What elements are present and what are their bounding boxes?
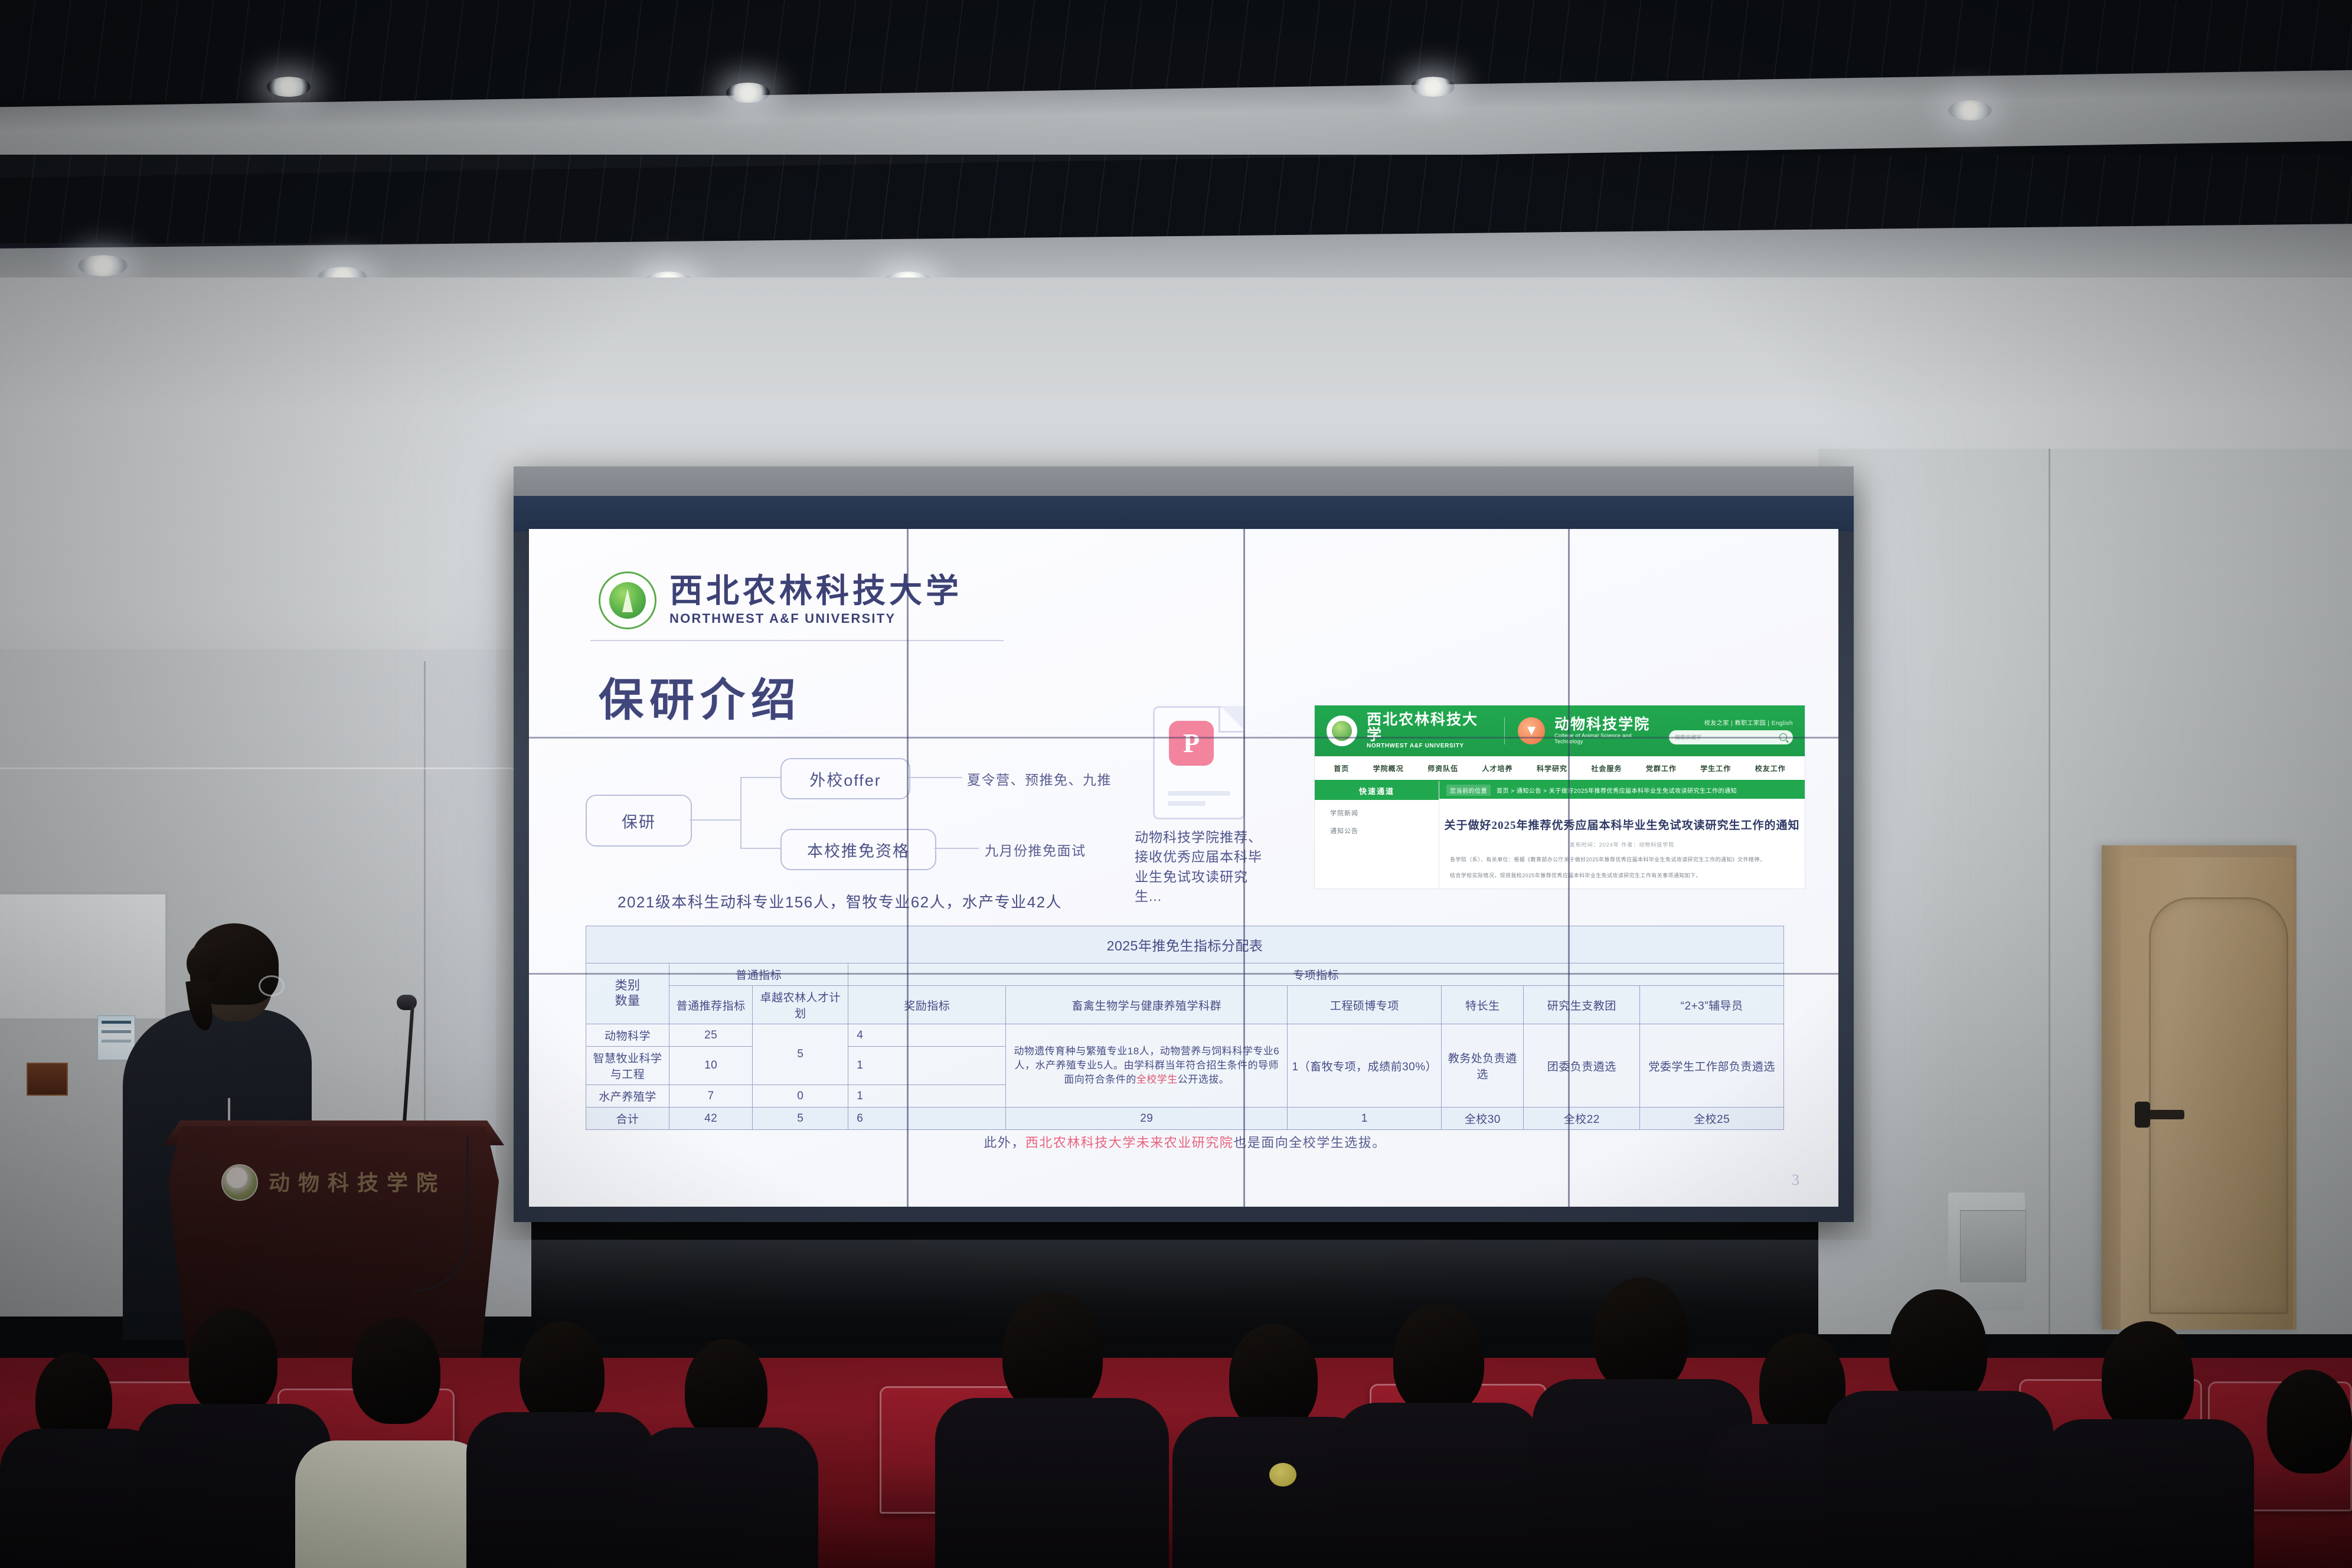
cell-talent-note: 教务处负责遴选	[1442, 1024, 1524, 1108]
row-smart-animal-general: 10	[669, 1047, 753, 1085]
cell-counselor-note: 党委学生工作部负责遴选	[1640, 1024, 1784, 1108]
wall-access-box	[1960, 1210, 2026, 1282]
flowchart-note-external-offer: 夏令营、预推免、九推	[967, 769, 1112, 789]
row-animal-science-label: 动物科学	[586, 1024, 669, 1047]
led-tile-seam-h-1	[529, 737, 1838, 739]
website-university-name: 西北农林科技大学 NORTHWEST A&F UNIVERSITY	[1367, 713, 1491, 750]
website-college-name-cn: 动物科技学院	[1554, 717, 1660, 733]
audience-shoulders	[935, 1398, 1169, 1568]
flowchart: 保研 外校offer 夏令营、预推免、九推 本校推免资格 九月份推免面试	[586, 760, 1070, 873]
flowchart-connector-note-1	[908, 777, 962, 778]
allocation-table: 2025年推免生指标分配表 类别数量 普通指标 专项指标 普通推荐指标 卓越农林…	[586, 926, 1784, 1130]
website-nav-item-7[interactable]: 学生工作	[1700, 763, 1731, 773]
col-engineering-master-phd: 工程硕博专项	[1288, 986, 1442, 1024]
website-university-name-en: NORTHWEST A&F UNIVERSITY	[1367, 743, 1491, 750]
website-header: 西北农林科技大学 NORTHWEST A&F UNIVERSITY ▼ 动物科技…	[1315, 705, 1805, 756]
podium-crest-icon	[221, 1164, 258, 1201]
row-smart-animal-label: 智慧牧业科学与工程	[586, 1047, 669, 1085]
discipline-group-desc-highlight: 全校学生	[1136, 1074, 1178, 1085]
audience-shoulders	[466, 1412, 655, 1568]
led-tile-seam-v-3	[1568, 529, 1570, 1207]
row-smart-animal-award: 1	[848, 1047, 1006, 1085]
door-handle[interactable]	[2143, 1110, 2184, 1119]
table-total-row: 合计 42 5 6 29 1 全校30 全校22 全校25	[586, 1108, 1784, 1130]
presenter-glasses-icon	[259, 975, 285, 997]
website-nav-item-1[interactable]: 学院概况	[1373, 763, 1404, 773]
doc-badge-letter: P	[1183, 730, 1200, 757]
website-nav[interactable]: 首页学院概况师资队伍人才培养科学研究社会服务党群工作学生工作校友工作	[1315, 756, 1805, 781]
row-total-discipline-group: 29	[1006, 1108, 1288, 1130]
audience-head	[685, 1339, 767, 1440]
university-crest-icon	[599, 571, 656, 629]
audience-shoulders	[635, 1427, 818, 1568]
col-counselor-2plus3: “2+3”辅导员	[1640, 986, 1784, 1024]
audience-shoulders	[1335, 1403, 1542, 1568]
ceiling-spotlight-5	[78, 255, 128, 276]
row-total-excellent: 5	[753, 1108, 848, 1130]
presentation-slide-surface[interactable]: 西北农林科技大学 NORTHWEST A&F UNIVERSITY 保研介绍 保…	[529, 529, 1838, 1207]
row-aquaculture-award: 1	[848, 1085, 1006, 1108]
table-title-row: 2025年推免生指标分配表	[586, 926, 1784, 963]
row-total-label: 合计	[586, 1108, 669, 1130]
website-top-links[interactable]: 校友之家 | 教职工家园 | English	[1669, 718, 1793, 727]
col-teaching-corps: 研究生支教团	[1524, 986, 1640, 1024]
website-sidebar-item-news[interactable]: 学院新闻	[1315, 800, 1439, 818]
document-card-caption: 动物科技学院推荐、接收优秀应届本科毕业生免试攻读研究生...	[1131, 828, 1267, 906]
document-card[interactable]: P 动物科技学院推荐、接收优秀应届本科毕业生免试攻读研究生...	[1131, 706, 1267, 906]
col-excellent-agri-plan: 卓越农林人才计划	[753, 986, 848, 1024]
website-university-crest-icon	[1327, 716, 1357, 746]
website-college-name: 动物科技学院 College of Animal Science and Tec…	[1554, 717, 1660, 744]
wps-doc-icon: P	[1153, 706, 1245, 819]
presenter-hair-bun	[187, 943, 223, 984]
flowchart-note-internal-qualification: 九月份推免面试	[985, 839, 1086, 860]
table-column-header-row: 普通推荐指标 卓越农林人才计划 奖励指标 畜禽生物学与健康养殖学科群 工程硕博专…	[586, 986, 1784, 1024]
website-sidebar: 快速通道 学院新闻 通知公告	[1315, 781, 1439, 889]
footer-note-prefix: 此外，	[984, 1135, 1025, 1150]
flowchart-root-label: 保研	[622, 809, 656, 832]
ceiling-spotlight-4	[1948, 100, 1992, 120]
website-nav-item-6[interactable]: 党群工作	[1646, 763, 1677, 773]
screen-blue-strip	[514, 496, 1854, 531]
row-animal-science-award: 4	[848, 1024, 1006, 1047]
website-nav-item-5[interactable]: 社会服务	[1591, 763, 1622, 773]
audience-head	[1594, 1278, 1688, 1393]
row-animal-science-general: 25	[669, 1024, 753, 1047]
flowchart-node-internal-qualification: 本校推免资格	[780, 829, 936, 870]
row-total-talent: 全校30	[1442, 1108, 1524, 1130]
footer-note-suffix: 也是面向全校学生选拔。	[1233, 1135, 1386, 1150]
ceiling-spotlight-3	[1411, 77, 1455, 97]
audience-head	[352, 1318, 440, 1424]
flowchart-node-internal-qualification-label: 本校推免资格	[807, 838, 910, 861]
flowchart-connector-note-2	[934, 848, 979, 849]
website-sidebar-item-notices[interactable]: 通知公告	[1315, 818, 1439, 835]
website-sidebar-title: 快速通道	[1315, 781, 1439, 800]
university-name-en: NORTHWEST A&F UNIVERSITY	[669, 611, 962, 626]
audience-head	[1393, 1304, 1484, 1415]
website-nav-item-0[interactable]: 首页	[1334, 763, 1349, 773]
col-livestock-discipline-group: 畜禽生物学与健康养殖学科群	[1006, 986, 1288, 1024]
row-aquaculture-excellent: 0	[753, 1085, 848, 1108]
allocation-table-title: 2025年推免生指标分配表	[586, 926, 1784, 963]
cell-excellent-plan-merged: 5	[753, 1024, 848, 1085]
website-header-divider	[1504, 717, 1505, 744]
led-tile-seam-v-2	[1243, 529, 1245, 1207]
wall-plaque	[27, 1063, 68, 1096]
table-row: 动物科学 25 5 4 动物遗传育种与繁殖专业18人，动物营养与饲料科学专业6人…	[586, 1024, 1784, 1047]
flowchart-connector-root	[690, 819, 740, 821]
ceiling-spotlight-2	[726, 83, 770, 103]
col-general-recommend: 普通推荐指标	[669, 986, 753, 1024]
flowchart-connector-split	[740, 777, 741, 848]
audience-head	[1002, 1292, 1103, 1415]
website-article-paragraph-1: 各学院（系）、有关单位：根据《教育部办公厅关于做好2025年推荐优秀应届本科毕业…	[1450, 855, 1794, 864]
audience-shoulders	[1825, 1391, 2053, 1568]
website-header-right: 校友之家 | 教职工家园 | English 搜索关键字	[1669, 718, 1793, 744]
website-breadcrumb: 您当前的位置 首页 > 通知公告 > 关于做好2025年推荐优秀应届本科毕业生免…	[1439, 781, 1805, 799]
discipline-group-desc-suffix: 公开选拔。	[1178, 1074, 1230, 1085]
row-aquaculture-general: 7	[669, 1085, 753, 1108]
flowchart-connector-down	[740, 848, 780, 849]
allocation-table-corner-label: 类别数量	[586, 963, 669, 1024]
website-article-meta: 发布时间：2024年 作者：动物科技学院	[1439, 841, 1805, 848]
website-breadcrumb-path: 首页 > 通知公告 > 关于做好2025年推荐优秀应届本科毕业生免试攻读研究生工…	[1497, 786, 1737, 795]
lecture-hall-photo: 西北农林科技大学 NORTHWEST A&F UNIVERSITY 保研介绍 保…	[0, 0, 2352, 1568]
enrollment-summary-line: 2021级本科生动科专业156人，智牧专业62人，水产专业42人	[618, 890, 1062, 912]
flowchart-node-external-offer-label: 外校offer	[809, 767, 881, 790]
led-tile-seam-v-1	[907, 529, 909, 1207]
allocation-table-wrap: 2025年推免生指标分配表 类别数量 普通指标 专项指标 普通推荐指标 卓越农林…	[586, 926, 1784, 1130]
row-aquaculture-label: 水产养殖学	[586, 1085, 669, 1108]
website-article-paragraph-2: 结合学校实际情况，现将我校2025年推荐优秀应届本科毕业生免试攻读研究生工作有关…	[1450, 871, 1794, 880]
flowchart-root-node: 保研	[586, 795, 692, 847]
website-nav-item-2[interactable]: 师资队伍	[1427, 763, 1458, 773]
audience-head	[520, 1321, 605, 1425]
audience-shoulders	[295, 1440, 490, 1568]
website-screenshot[interactable]: 西北农林科技大学 NORTHWEST A&F UNIVERSITY ▼ 动物科技…	[1314, 705, 1805, 889]
flowchart-node-external-offer: 外校offer	[780, 758, 910, 799]
audience-shoulders	[2041, 1419, 2254, 1568]
audience-head	[2102, 1321, 2194, 1433]
website-breadcrumb-tag: 您当前的位置	[1446, 785, 1491, 796]
wall-panel-line-1	[0, 767, 520, 769]
doc-badge-icon: P	[1169, 721, 1214, 766]
wall-seam-right-1	[2049, 449, 2050, 1334]
footer-note-highlight: 西北农林科技大学未来农业研究院	[1025, 1135, 1234, 1150]
website-nav-item-3[interactable]: 人才培养	[1482, 763, 1513, 773]
website-university-name-cn: 西北农林科技大学	[1367, 713, 1491, 744]
slide-page-number: 3	[1792, 1171, 1799, 1189]
cell-engineering-note: 1（畜牧专项，成绩前30%）	[1288, 1024, 1442, 1108]
row-total-award: 6	[848, 1108, 1006, 1130]
slide-footer-note: 此外，西北农林科技大学未来农业研究院也是面向全校学生选拔。	[586, 1132, 1784, 1151]
website-nav-item-4[interactable]: 科学研究	[1537, 763, 1567, 773]
row-total-engineering: 1	[1288, 1108, 1442, 1130]
audience-head	[189, 1308, 277, 1416]
row-total-general: 42	[669, 1108, 753, 1130]
website-article-headline: 关于做好2025年推荐优秀应届本科毕业生免试攻读研究生工作的通知	[1439, 816, 1805, 832]
col-award-quota: 奖励指标	[848, 986, 1006, 1024]
university-name-cn: 西北农林科技大学	[669, 574, 962, 609]
website-main: 您当前的位置 首页 > 通知公告 > 关于做好2025年推荐优秀应届本科毕业生免…	[1439, 781, 1805, 889]
row-total-counselor: 全校25	[1640, 1108, 1784, 1130]
ceiling-spotlight-1	[267, 77, 311, 97]
college-seal-icon: ▼	[1518, 717, 1545, 744]
audience-head	[2267, 1370, 2352, 1474]
website-body: 快速通道 学院新闻 通知公告 您当前的位置 首页 > 通知公告 > 关于做好20…	[1315, 781, 1805, 889]
website-college-name-en: College of Animal Science and Technology	[1554, 733, 1660, 745]
row-total-teaching-corps: 全校22	[1524, 1108, 1640, 1130]
slide-title: 保研介绍	[599, 664, 802, 729]
presentation-slide: 西北农林科技大学 NORTHWEST A&F UNIVERSITY 保研介绍 保…	[529, 529, 1838, 1207]
door-panel	[2149, 897, 2288, 1314]
flowchart-connector-up	[740, 777, 780, 778]
cell-discipline-group-description: 动物遗传育种与繁殖专业18人，动物营养与饲料科学专业6人，水产养殖专业5人。由学…	[1006, 1024, 1288, 1108]
cell-teaching-corps-note: 团委负责遴选	[1524, 1024, 1640, 1108]
audience-hair-scrunchie	[1269, 1463, 1296, 1487]
led-tile-seam-h-2	[529, 973, 1838, 975]
website-nav-item-8[interactable]: 校友工作	[1755, 763, 1786, 773]
slide-header-divider	[590, 640, 1004, 641]
audience-head	[1229, 1324, 1318, 1431]
col-special-talent: 特长生	[1442, 986, 1524, 1024]
